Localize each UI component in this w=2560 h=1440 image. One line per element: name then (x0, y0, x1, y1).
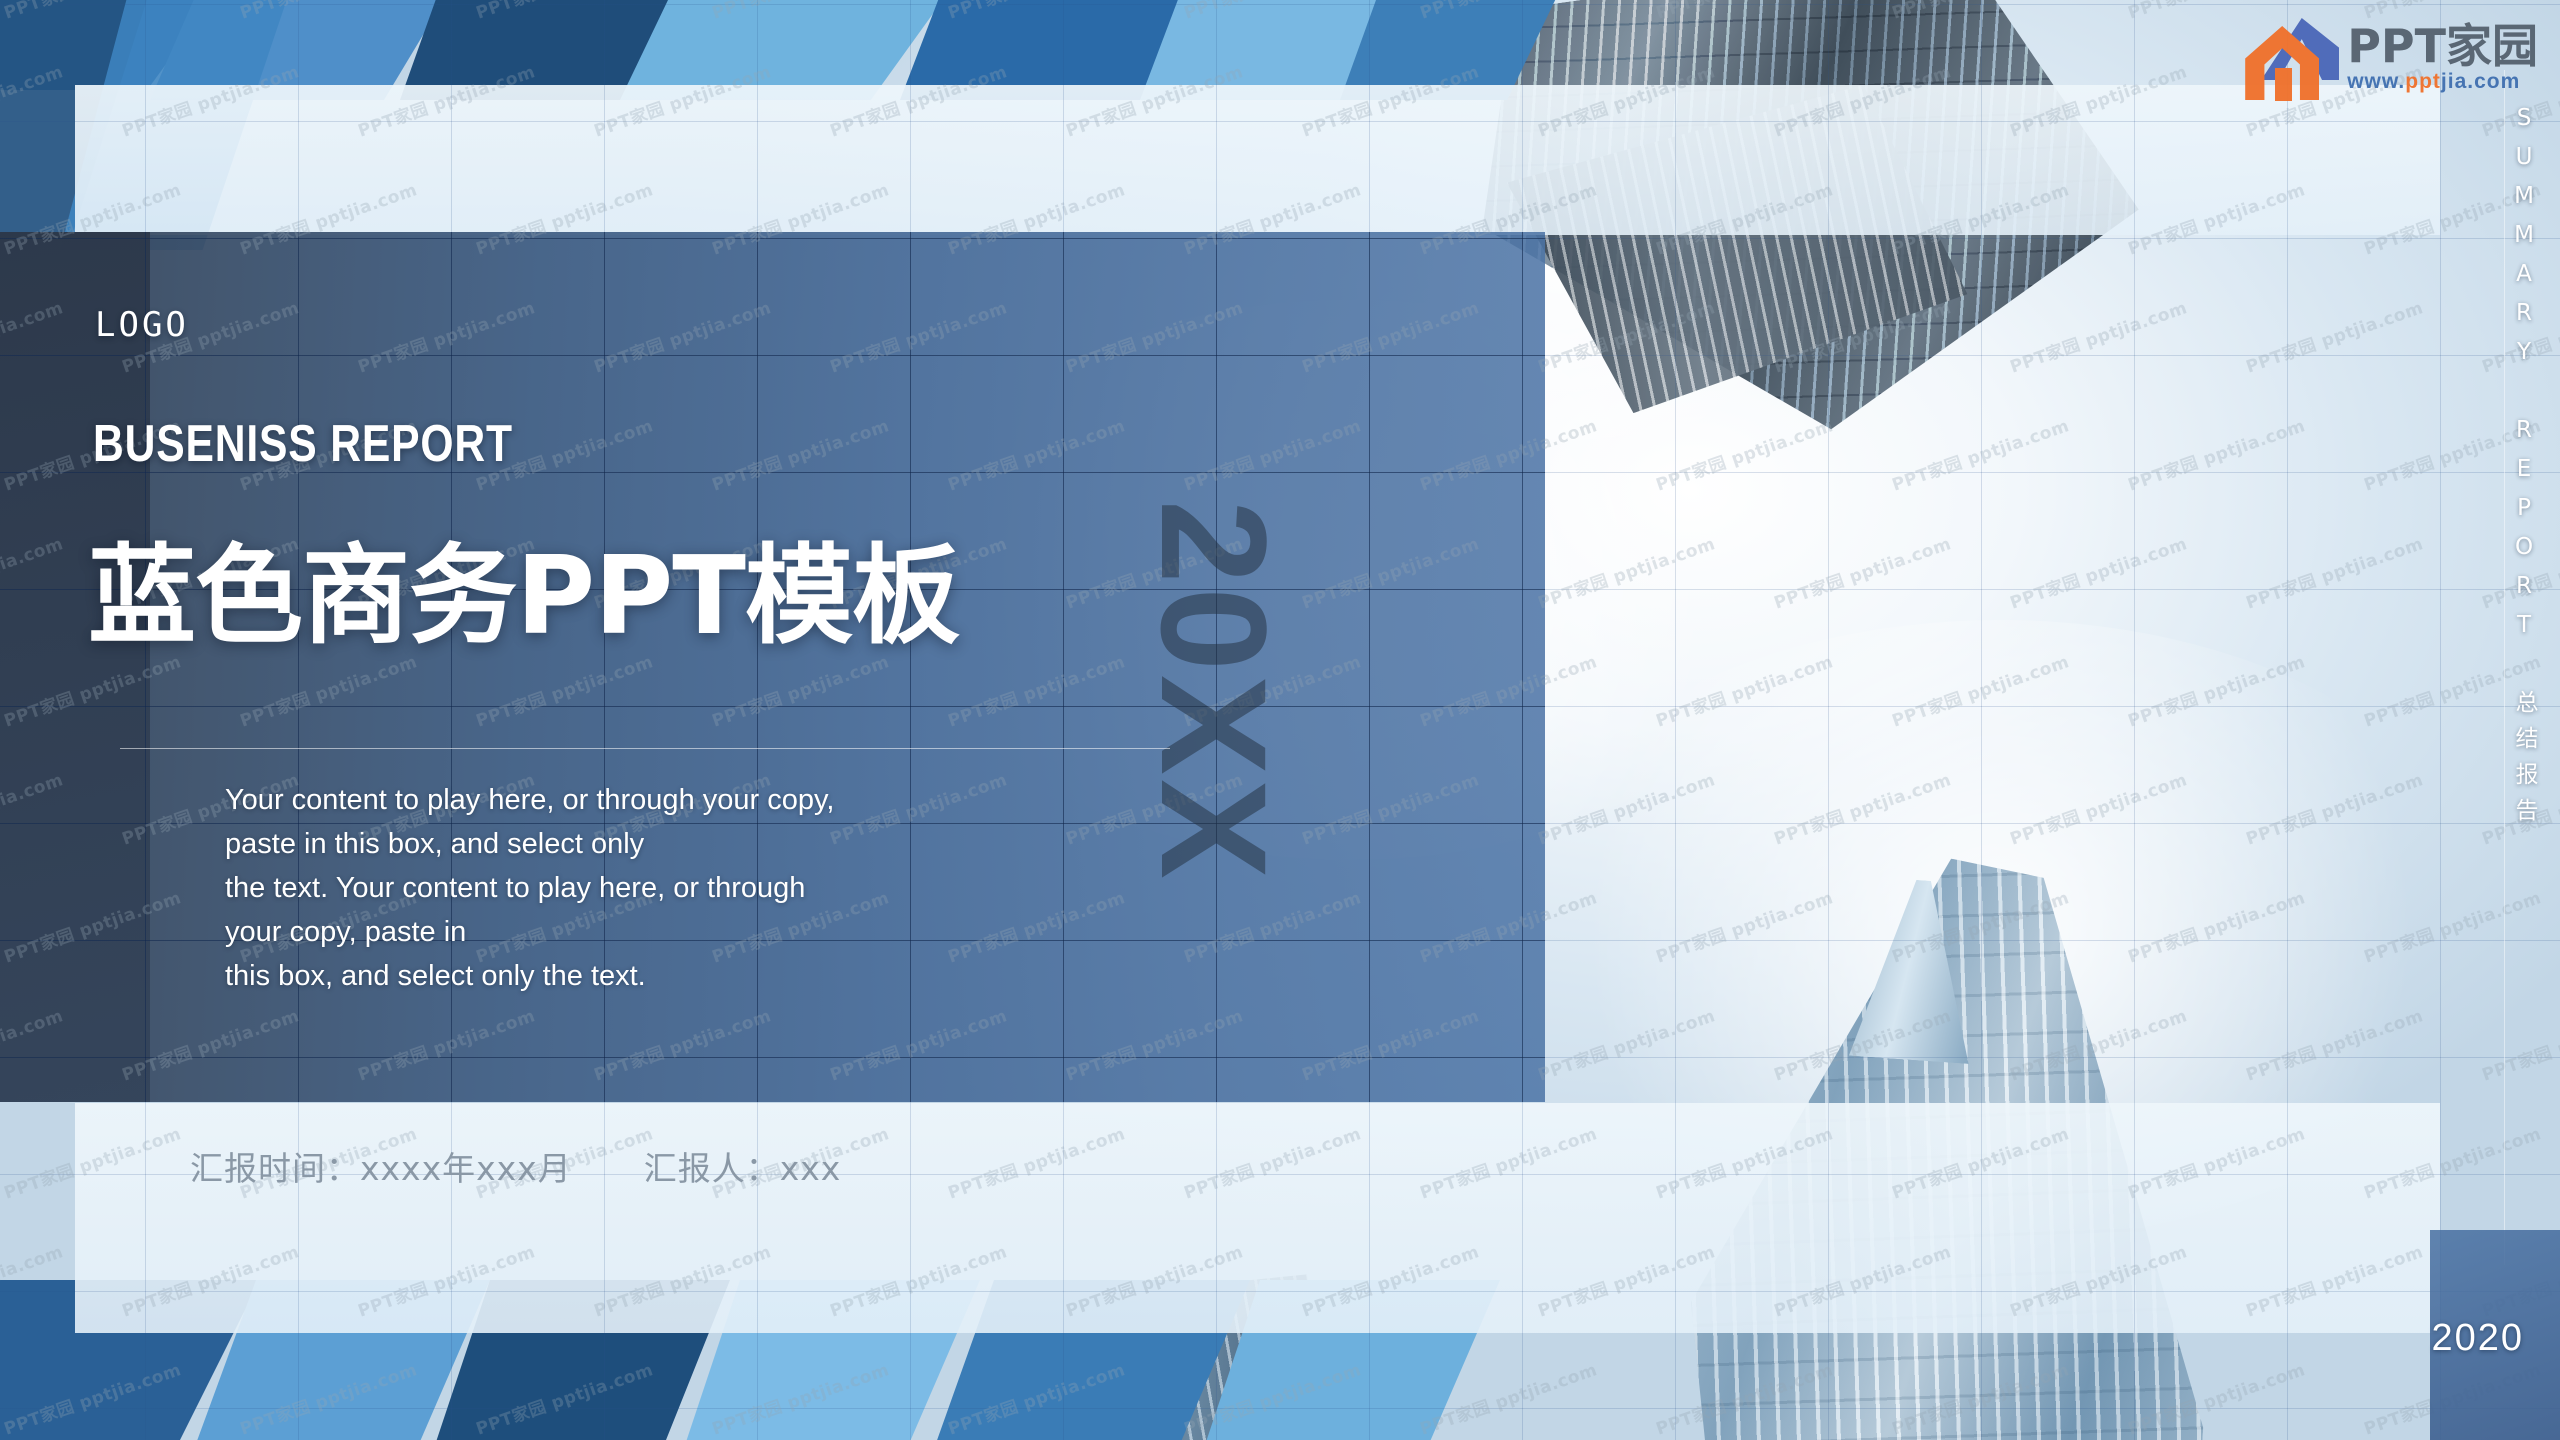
subtitle-english: BUSENISS REPORT (93, 418, 513, 470)
right-vertical-rail: SUMMARY REPORT 总结报告 (2488, 0, 2560, 1440)
title-divider-line (120, 748, 1170, 749)
brand-url-prefix: www. (2347, 70, 2405, 93)
brand-logo[interactable]: PPT家园 www.pptjia.com (2245, 14, 2538, 100)
reporter-label: 汇报人： (644, 1149, 780, 1188)
footer-meta-row: 汇报时间：xxxx年xxx月 汇报人：xxx (190, 1142, 841, 1190)
reporter-value[interactable]: xxx (780, 1149, 842, 1188)
reporter-group: 汇报人：xxx (644, 1142, 842, 1190)
rail-divider-line (2504, 70, 2505, 1265)
rail-year-label: 2020 (2431, 1317, 2524, 1360)
slide-canvas: PPT家园 pptjia.comPPT家园 pptjia.comPPT家园 pp… (0, 0, 2560, 1440)
report-date-label: 汇报时间： (190, 1149, 360, 1188)
top-banner-strip (75, 85, 2440, 235)
logo-placeholder[interactable]: LOGO (95, 305, 189, 345)
body-paragraph: Your content to play here, or through yo… (225, 778, 1045, 998)
body-paragraph-line: paste in this box, and select only (225, 822, 1045, 866)
house-pillar-shape (2275, 68, 2292, 101)
rail-vertical-label: SUMMARY REPORT 总结报告 (2507, 105, 2541, 834)
brand-name: PPT家园 (2347, 23, 2538, 69)
brand-text-group: PPT家园 www.pptjia.com (2347, 23, 2538, 92)
main-title: 蓝色商务PPT模板 (88, 540, 959, 653)
body-paragraph-line: your copy, paste in (225, 910, 1045, 954)
report-date-value[interactable]: xxxx年xxx月 (360, 1149, 572, 1188)
report-date-group: 汇报时间：xxxx年xxx月 (190, 1142, 572, 1190)
body-paragraph-line: this box, and select only the text. (225, 954, 1045, 998)
house-logo-icon (2245, 14, 2337, 100)
body-paragraph-line: Your content to play here, or through yo… (225, 778, 1045, 822)
brand-url-suffix: jia.com (2441, 70, 2520, 93)
brand-url-highlight: ppt (2405, 70, 2441, 93)
content-panel-left-edge (0, 232, 150, 1102)
brand-url: www.pptjia.com (2347, 71, 2538, 92)
body-paragraph-line: the text. Your content to play here, or … (225, 866, 1045, 910)
bottom-banner-strip (75, 1103, 2440, 1333)
ghost-year-watermark: 20XX (1127, 500, 1300, 883)
